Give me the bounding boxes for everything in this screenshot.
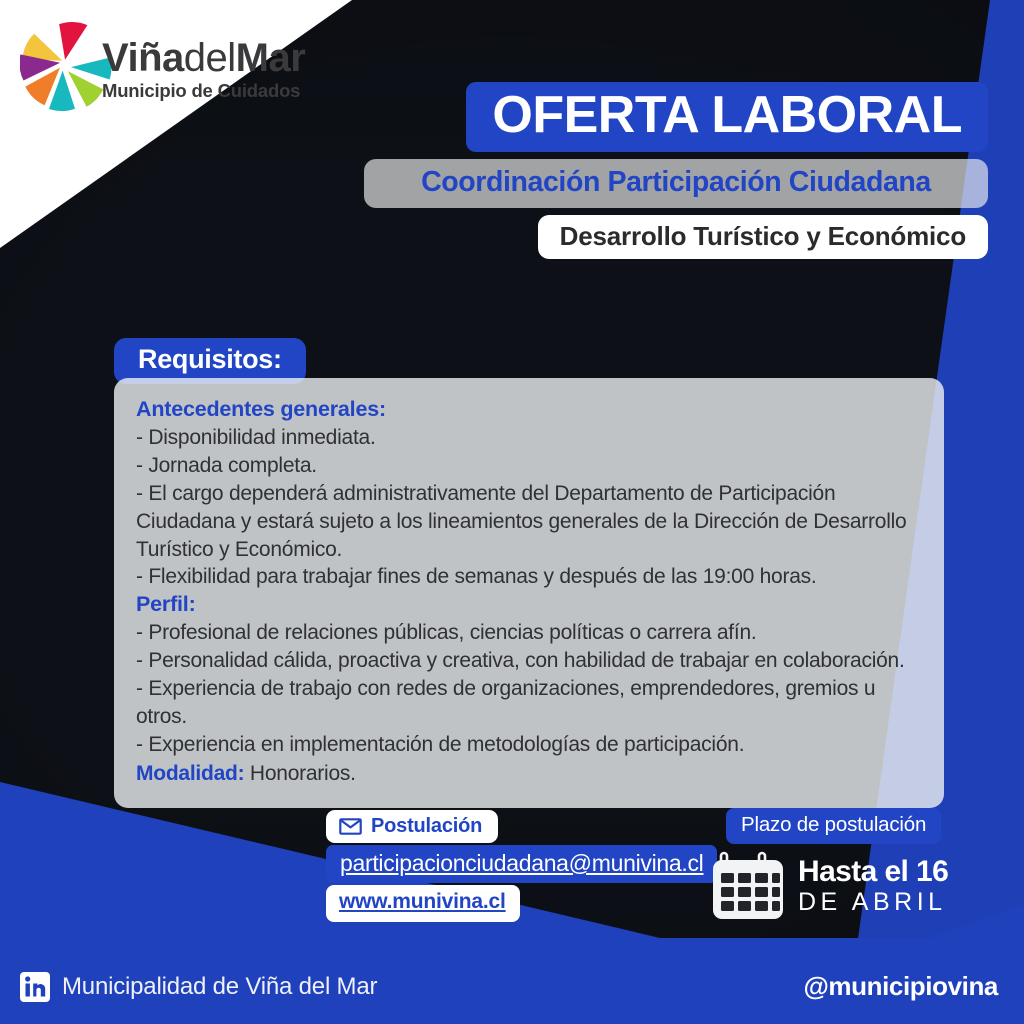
municipality-logo: ViñadelMar Municipio de Cuidados <box>20 14 310 118</box>
perfil-item: - Profesional de relaciones públicas, ci… <box>136 619 922 647</box>
headline-group: OFERTA LABORAL Coordinación Participació… <box>364 82 988 259</box>
section-heading-antecedentes: Antecedentes generales: <box>136 396 922 423</box>
requisito-item: - Flexibilidad para trabajar fines de se… <box>136 563 922 591</box>
perfil-item: - Personalidad cálida, proactiva y creat… <box>136 647 922 675</box>
modalidad-row: Modalidad: Honorarios. <box>136 760 922 788</box>
perfil-item: - Experiencia en implementación de metod… <box>136 731 922 759</box>
logo-tagline: Municipio de Cuidados <box>102 80 305 102</box>
headline-banner: OFERTA LABORAL <box>466 82 988 152</box>
requisitos-panel: Antecedentes generales: - Disponibilidad… <box>114 378 944 808</box>
postulacion-badge: Postulación <box>326 810 498 843</box>
logo-wordmark: ViñadelMar Municipio de Cuidados <box>102 38 305 102</box>
footer-social-name: Municipalidad de Viña del Mar <box>62 973 377 1001</box>
pinwheel-logo-icon <box>20 16 112 116</box>
requisito-item: - El cargo dependerá administrativamente… <box>136 480 922 564</box>
modalidad-value: Honorarios. <box>250 762 356 785</box>
calendar-icon <box>712 851 786 921</box>
requisito-item: - Disponibilidad inmediata. <box>136 424 922 452</box>
logo-title: ViñadelMar <box>102 38 305 78</box>
logo-title-vina: Viña <box>102 36 184 80</box>
footer-handle[interactable]: @municipiovina <box>803 971 998 1002</box>
website-link[interactable]: www.munivina.cl <box>326 885 520 921</box>
postulacion-label: Postulación <box>371 816 482 836</box>
plazo-date-line1: Hasta el 16 <box>798 857 948 887</box>
plazo-badge: Plazo de postulación <box>726 808 941 844</box>
footer-social[interactable]: Municipalidad de Viña del Mar <box>20 972 377 1002</box>
perfil-item: - Experiencia de trabajo con redes de or… <box>136 675 922 731</box>
job-offer-poster: ViñadelMar Municipio de Cuidados OFERTA … <box>0 0 1024 1024</box>
requisito-item: - Jornada completa. <box>136 452 922 480</box>
logo-title-mar: Mar <box>236 36 306 80</box>
postulacion-block: Postulación participacionciudadana@muniv… <box>326 810 706 922</box>
application-email[interactable]: participacionciudadana@munivina.cl <box>326 845 717 883</box>
plazo-date: Hasta el 16 DE ABRIL <box>798 857 948 915</box>
headline-department: Desarrollo Turístico y Económico <box>538 215 988 259</box>
section-heading-perfil: Perfil: <box>136 591 922 618</box>
linkedin-icon[interactable] <box>20 972 50 1002</box>
envelope-icon <box>339 818 362 835</box>
logo-title-del: del <box>184 36 236 80</box>
plazo-date-row: Hasta el 16 DE ABRIL <box>712 851 982 921</box>
modalidad-label: Modalidad: <box>136 762 244 785</box>
headline-subtitle: Coordinación Participación Ciudadana <box>364 159 988 208</box>
plazo-date-line2: DE ABRIL <box>798 890 948 915</box>
plazo-block: Plazo de postulación <box>712 808 982 921</box>
